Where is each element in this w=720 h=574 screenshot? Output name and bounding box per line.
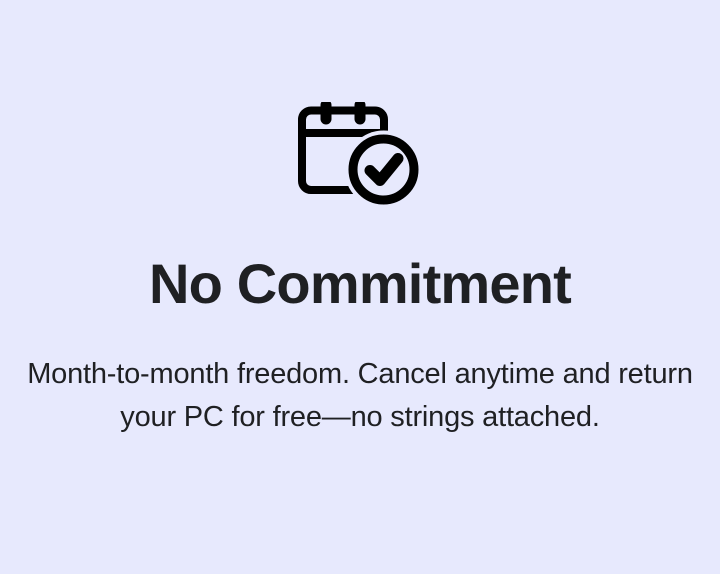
calendar-check-icon: [298, 102, 422, 206]
page-title: No Commitment: [149, 256, 571, 312]
feature-description: Month-to-month freedom. Cancel anytime a…: [24, 353, 696, 439]
no-commitment-feature-card: No Commitment Month-to-month freedom. Ca…: [0, 0, 720, 574]
